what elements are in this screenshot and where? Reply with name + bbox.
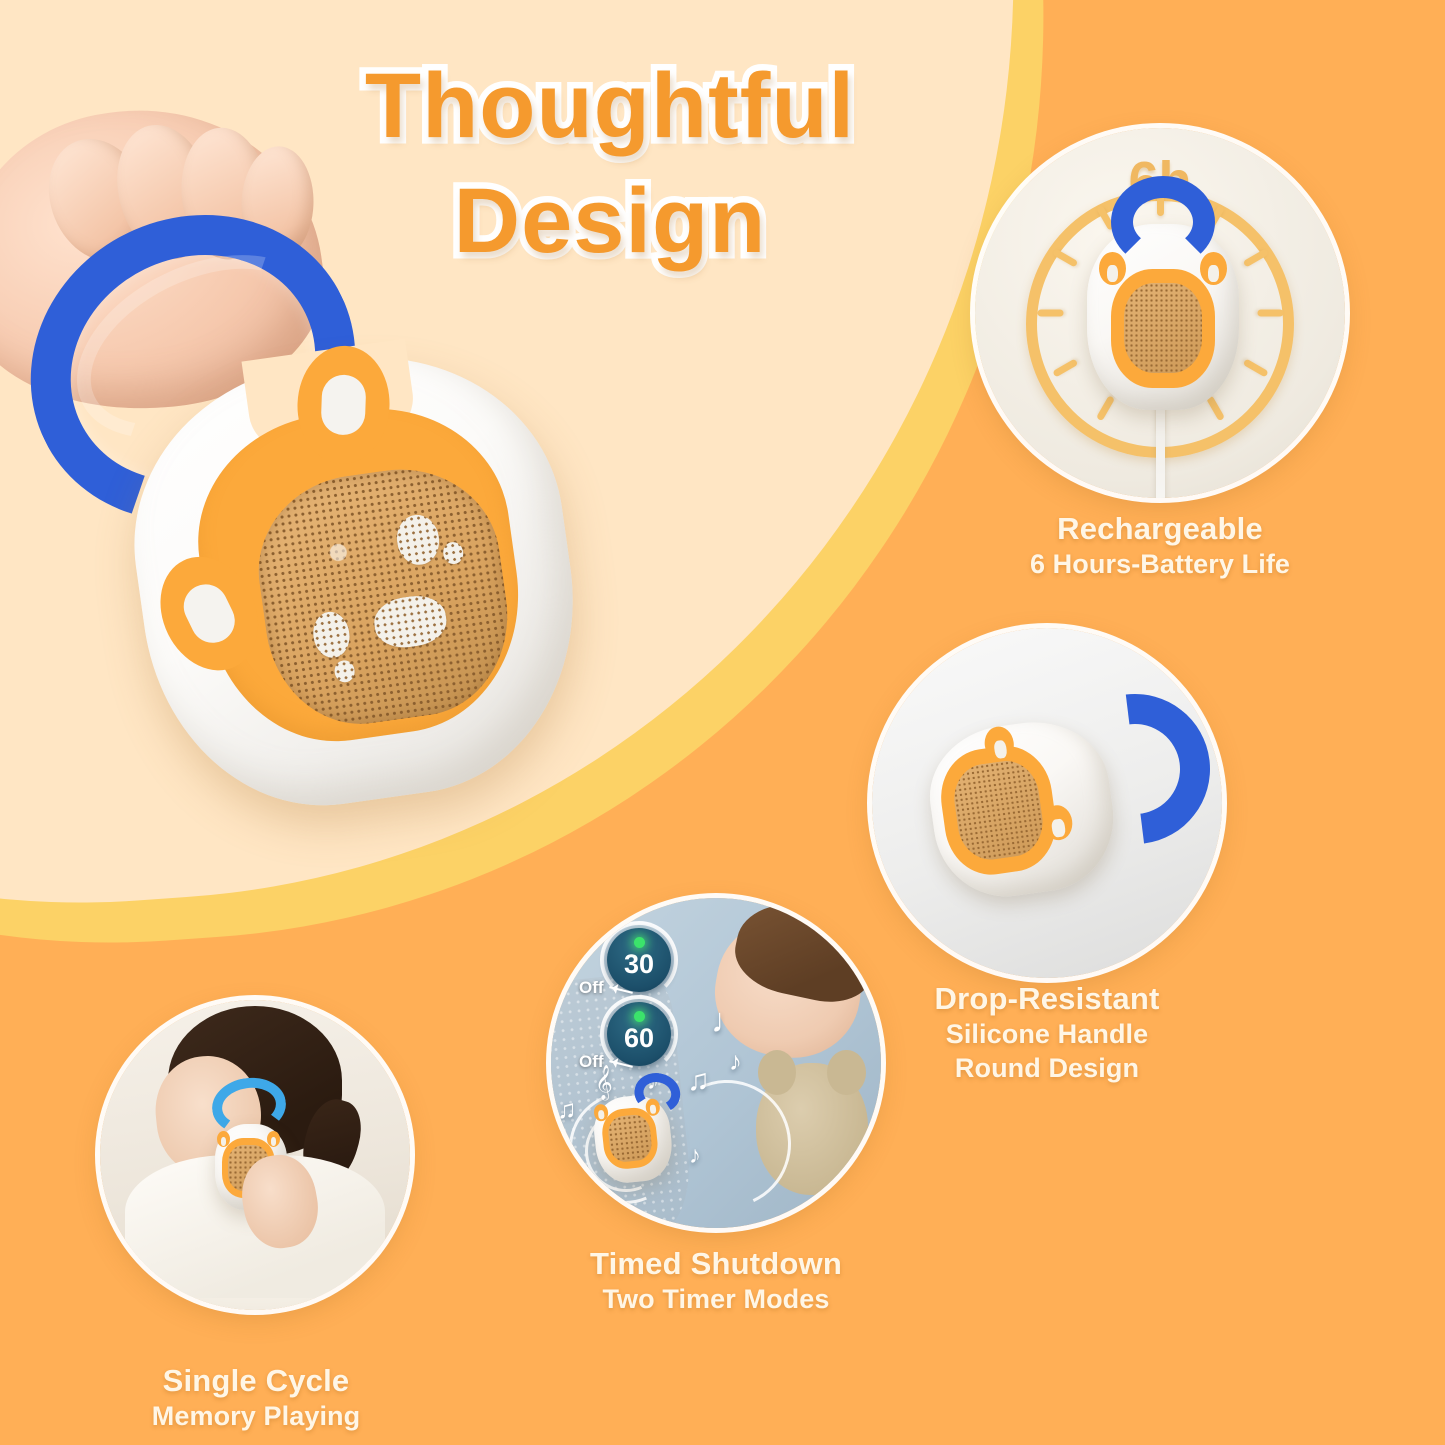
led-indicator-icon: [634, 937, 645, 948]
mini-ear-left: [217, 1131, 231, 1148]
marketing-image-canvas: Thoughtful Design: [0, 0, 1445, 1445]
bear-ear-left: [142, 540, 276, 686]
feature-image-timed-shutdown: ♩ ♪ ♫ ♪ 𝄞 ♫ ♪ 30 Off 60 Off: [551, 898, 881, 1228]
bear-cheek-small: [333, 659, 356, 684]
bear-eye-right: [442, 541, 465, 566]
caption-drop-resistant: Drop-Resistant Silicone Handle Round Des…: [860, 980, 1234, 1085]
caption-title: Timed Shutdown: [530, 1245, 902, 1283]
caption-single-cycle: Single Cycle Memory Playing: [70, 1362, 442, 1434]
bear-eye-left: [394, 512, 443, 567]
feature-image-drop-resistant: [872, 628, 1222, 978]
speaker-grille: [246, 457, 520, 736]
led-indicator-icon: [634, 1011, 645, 1022]
mini-bear-plate: [1111, 269, 1214, 388]
mini-speaker-grille: [607, 1114, 653, 1164]
device-mini-side: [921, 712, 1123, 905]
feature-image-rechargeable: 6h: [975, 128, 1345, 498]
timer-badge-30: 30 Off: [607, 928, 671, 992]
mini-speaker-grille: [950, 757, 1047, 863]
mini-ear-left: [1099, 252, 1126, 285]
timer-state-label: Off: [579, 978, 604, 998]
caption-subtitle-2: Round Design: [860, 1052, 1234, 1086]
music-note-icon: ♫: [557, 1094, 577, 1125]
music-note-icon: ♫: [687, 1064, 710, 1098]
caption-title: Rechargeable: [1000, 510, 1320, 548]
device-mini-front: [1087, 224, 1239, 410]
feature-image-single-cycle: [100, 1000, 410, 1310]
caption-subtitle-1: Silicone Handle: [860, 1018, 1234, 1052]
caption-rechargeable: Rechargeable 6 Hours-Battery Life: [1000, 510, 1320, 582]
caption-subtitle: 6 Hours-Battery Life: [1000, 548, 1320, 582]
caption-title: Single Cycle: [70, 1362, 442, 1400]
title-line-2: Design: [300, 167, 920, 276]
music-note-icon: ♪: [729, 1046, 742, 1077]
bear-face-plate: [182, 391, 536, 757]
caption-title: Drop-Resistant: [860, 980, 1234, 1018]
music-note-icon: ♪: [689, 1142, 701, 1170]
bear-cheek: [310, 610, 352, 661]
mini-handle-blue: [1111, 176, 1215, 268]
timer-state-label: Off: [579, 1052, 604, 1072]
bear-nose: [371, 592, 449, 652]
device-mini-inbed: [591, 1092, 676, 1185]
timer-badge-60: 60 Off: [607, 1002, 671, 1066]
caption-subtitle: Memory Playing: [70, 1400, 442, 1434]
title-line-1: Thoughtful: [300, 52, 920, 161]
music-note-icon: ♩: [711, 1002, 745, 1041]
caption-subtitle: Two Timer Modes: [530, 1283, 902, 1317]
mini-speaker-grille: [1124, 283, 1203, 373]
caption-timed-shutdown: Timed Shutdown Two Timer Modes: [530, 1245, 902, 1317]
page-title: Thoughtful Design: [300, 52, 920, 275]
